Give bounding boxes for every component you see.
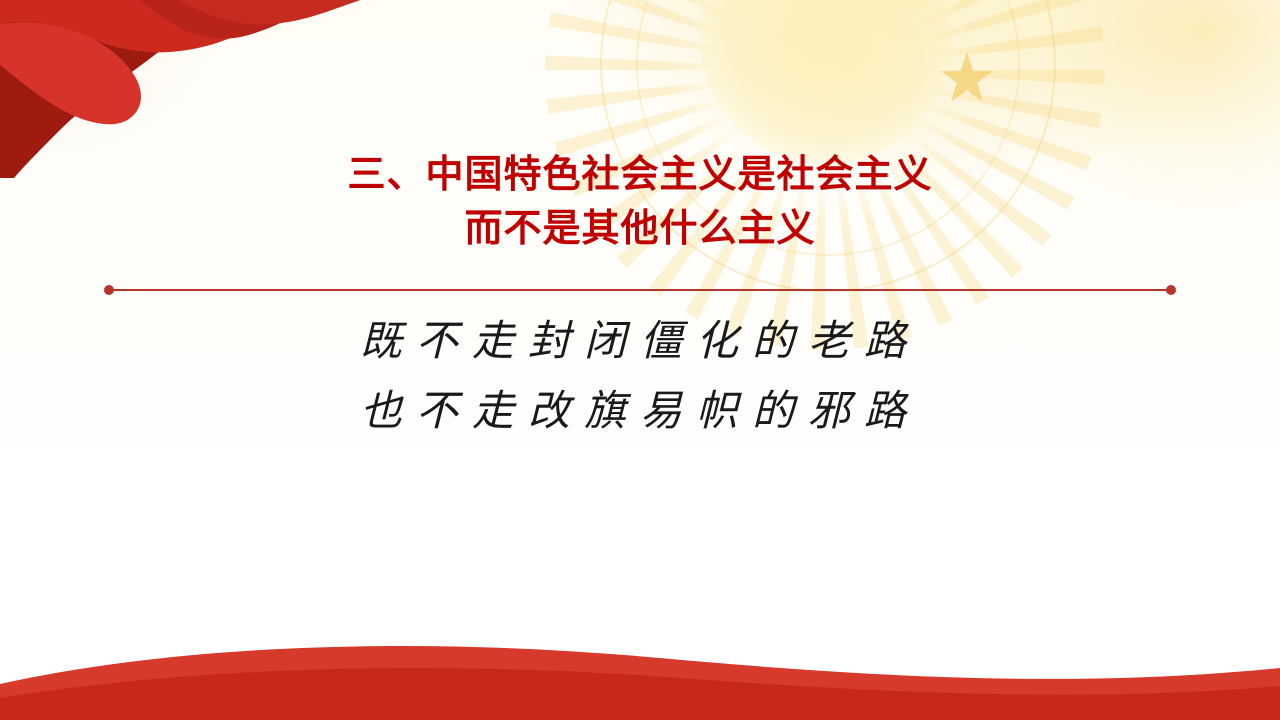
ribbon-highlight-shape (120, 0, 420, 42)
divider (104, 284, 1176, 296)
title-line-2: 而不是其他什么主义 (0, 202, 1280, 256)
slide-title: 三、中国特色社会主义是社会主义 而不是其他什么主义 (0, 148, 1280, 256)
body-line-1: 既不走封闭僵化的老路 (0, 306, 1280, 376)
title-line-1: 三、中国特色社会主义是社会主义 (0, 148, 1280, 202)
body-line-2: 也不走改旗易帜的邪路 (0, 376, 1280, 446)
divider-line (110, 289, 1170, 291)
divider-dot-right (1166, 285, 1176, 295)
wave-decoration (0, 610, 1280, 720)
slide-canvas: 三、中国特色社会主义是社会主义 而不是其他什么主义 既不走封闭僵化的老路 也不走… (0, 0, 1280, 720)
slide-body: 既不走封闭僵化的老路 也不走改旗易帜的邪路 (0, 306, 1280, 446)
